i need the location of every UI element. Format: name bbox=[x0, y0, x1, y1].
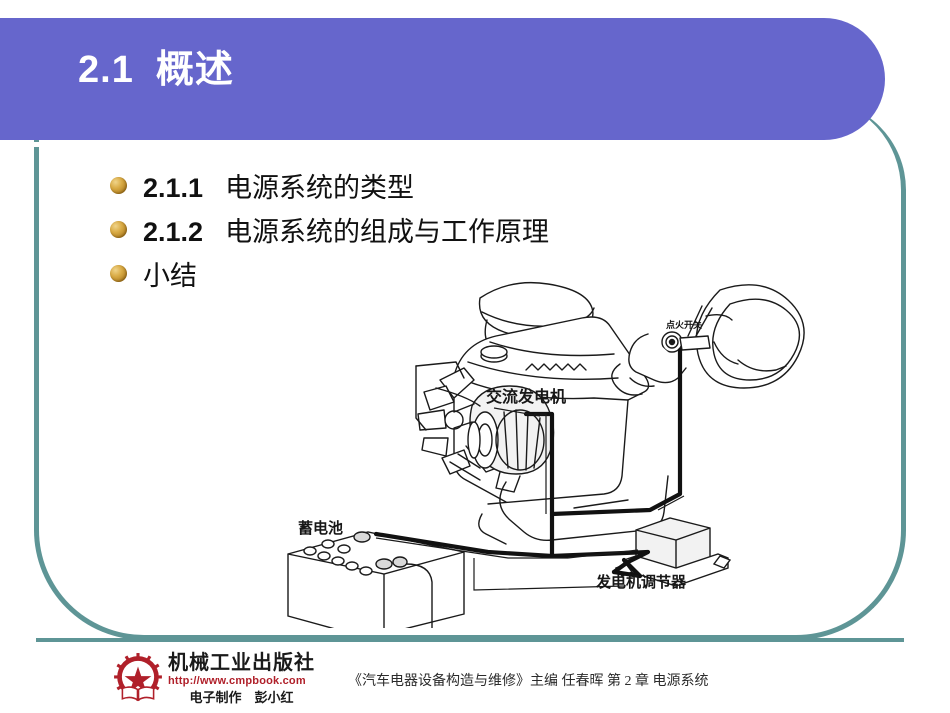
diagram-label-battery: 蓄电池 bbox=[298, 517, 343, 538]
publisher-credit: 电子制作 彭小红 bbox=[168, 691, 315, 704]
diagram-label-regulator: 发电机调节器 bbox=[596, 571, 686, 592]
publisher-url[interactable]: http://www.cmpbook.com bbox=[168, 676, 315, 687]
page-title: 2.1概述 bbox=[78, 38, 234, 93]
publisher-text-block: 机械工业出版社 http://www.cmpbook.com 电子制作 彭小红 bbox=[168, 652, 315, 704]
footer-divider bbox=[36, 638, 904, 642]
list-item-label: 2.1.1电源系统的类型 bbox=[143, 166, 414, 205]
power-system-diagram-svg bbox=[268, 268, 808, 628]
slide-canvas: 2.1概述 2.1.1电源系统的类型 2.1.2电源系统的组成与工作原理 小结 bbox=[0, 0, 950, 713]
list-item[interactable]: 2.1.1电源系统的类型 bbox=[110, 168, 730, 202]
publisher-logo-block: 机械工业出版社 http://www.cmpbook.com 电子制作 彭小红 bbox=[112, 652, 315, 704]
publisher-name: 机械工业出版社 bbox=[168, 653, 315, 673]
list-item-label: 2.1.2电源系统的组成与工作原理 bbox=[143, 210, 549, 249]
list-item-text: 小结 bbox=[143, 261, 197, 291]
list-item-code: 2.1.2 bbox=[143, 217, 203, 247]
list-item-text: 电源系统的组成与工作原理 bbox=[225, 217, 549, 247]
list-item-text: 电源系统的类型 bbox=[225, 173, 414, 203]
list-item-label: 小结 bbox=[143, 254, 197, 293]
diagram-label-alternator: 交流发电机 bbox=[486, 383, 566, 407]
list-item[interactable]: 2.1.2电源系统的组成与工作原理 bbox=[110, 212, 730, 246]
bullet-sphere-icon bbox=[110, 265, 127, 282]
list-item-code: 2.1.1 bbox=[143, 173, 203, 203]
page-title-text: 概述 bbox=[156, 49, 234, 91]
publisher-gear-star-book-icon bbox=[112, 652, 164, 704]
bullet-sphere-icon bbox=[110, 221, 127, 238]
steering-wheel-shape bbox=[696, 285, 804, 388]
bullet-sphere-icon bbox=[110, 177, 127, 194]
power-system-diagram: 交流发电机 点火开关 蓄电池 发电机调节器 bbox=[268, 268, 808, 628]
page-title-number: 2.1 bbox=[78, 49, 134, 91]
footer-caption: 《汽车电器设备构造与维修》主编 任春晖 第 2 章 电源系统 bbox=[348, 670, 709, 690]
diagram-label-ignition-switch: 点火开关 bbox=[666, 318, 702, 331]
battery-shape bbox=[288, 532, 464, 628]
title-banner-underline bbox=[0, 142, 850, 147]
